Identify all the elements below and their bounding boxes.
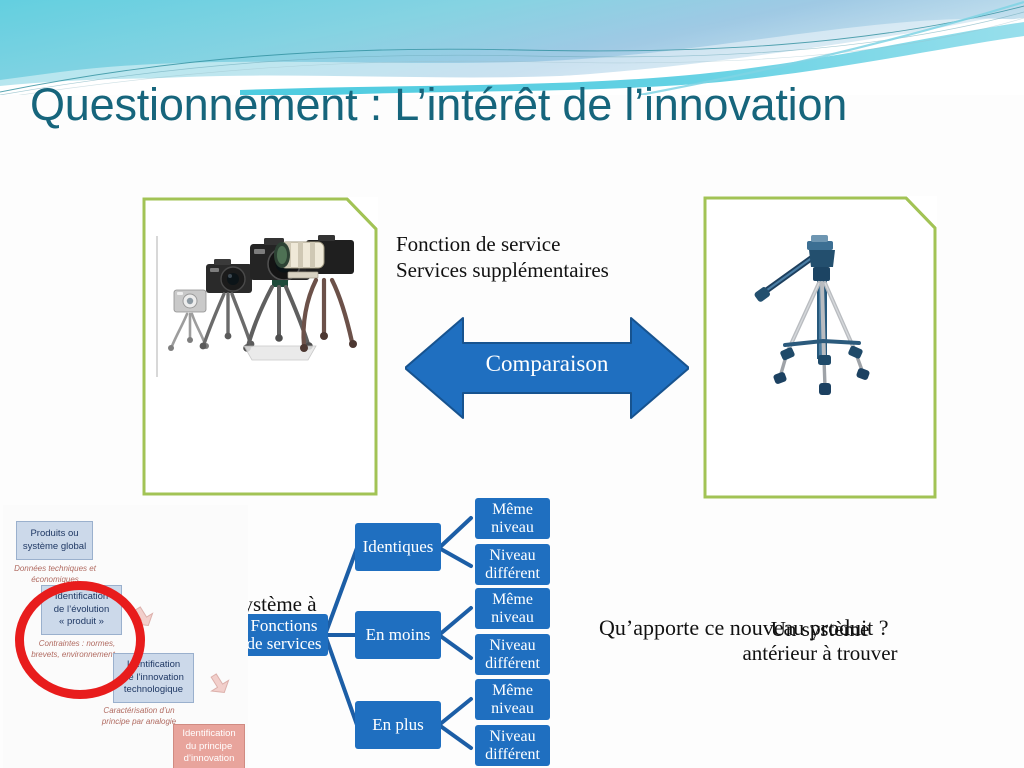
tree-leaf-en-moins-niveau-different[interactable]: Niveau différent (475, 634, 550, 675)
tree-leaf-en-plus-niveau-different[interactable]: Niveau différent (475, 725, 550, 766)
left-system-frame: Un système à étudier (142, 197, 378, 496)
tree-node-en-plus-label: En plus (372, 716, 423, 734)
comparison-arrow: Comparaison (405, 315, 689, 421)
tree-node-en-moins-label: En moins (366, 626, 431, 644)
functions-tree-diagram: Fonctions de services Identiques Même ni… (245, 490, 575, 768)
right-system-frame: Un système antérieur à trouver (703, 196, 937, 499)
cameras-photo (156, 234, 364, 379)
tree-node-en-plus[interactable]: En plus (355, 701, 441, 749)
page-title: Questionnement : L’intérêt de l’innovati… (30, 79, 1010, 131)
tree-leaf-en-moins-meme-niveau[interactable]: Même niveau (475, 588, 550, 629)
tree-leaf-label: Niveau différent (485, 728, 540, 763)
tree-leaf-identiques-meme-niveau[interactable]: Même niveau (475, 498, 550, 539)
tree-node-identiques[interactable]: Identiques (355, 523, 441, 571)
flow-box-produits[interactable]: Produits ou système global (16, 521, 93, 560)
red-highlight-circle (15, 581, 145, 699)
comparison-arrow-label: Comparaison (405, 351, 689, 377)
tree-leaf-label: Même niveau (491, 501, 534, 536)
flow-caption-text: Caractérisation d’un principe par analog… (102, 706, 176, 726)
tree-leaf-en-plus-meme-niveau[interactable]: Même niveau (475, 679, 550, 720)
tree-leaf-identiques-niveau-different[interactable]: Niveau différent (475, 544, 550, 585)
tree-node-root[interactable]: Fonctions de services (240, 614, 328, 656)
tree-node-en-moins[interactable]: En moins (355, 611, 441, 659)
tree-node-root-label: Fonctions de services (246, 617, 321, 654)
flow-box-label: Produits ou système global (23, 528, 86, 554)
tree-leaf-label: Niveau différent (485, 637, 540, 672)
tripod-photo (751, 231, 891, 406)
tree-leaf-label: Même niveau (491, 682, 534, 717)
innovation-process-diagram: Produits ou système global Données techn… (3, 505, 248, 768)
tree-leaf-label: Même niveau (491, 591, 534, 626)
slide-canvas: Questionnement : L’intérêt de l’innovati… (0, 0, 1024, 768)
question-text: Qu’apporte ce nouveau produit ? (599, 615, 889, 641)
flow-box-principe-innovation[interactable]: Identification du principe d’innovation (173, 724, 245, 768)
flow-box-label: Identification du principe d’innovation (182, 728, 235, 766)
tree-leaf-label: Niveau différent (485, 547, 540, 582)
tree-node-identiques-label: Identiques (363, 538, 434, 556)
service-function-text: Fonction de service Services supplémenta… (396, 231, 609, 284)
